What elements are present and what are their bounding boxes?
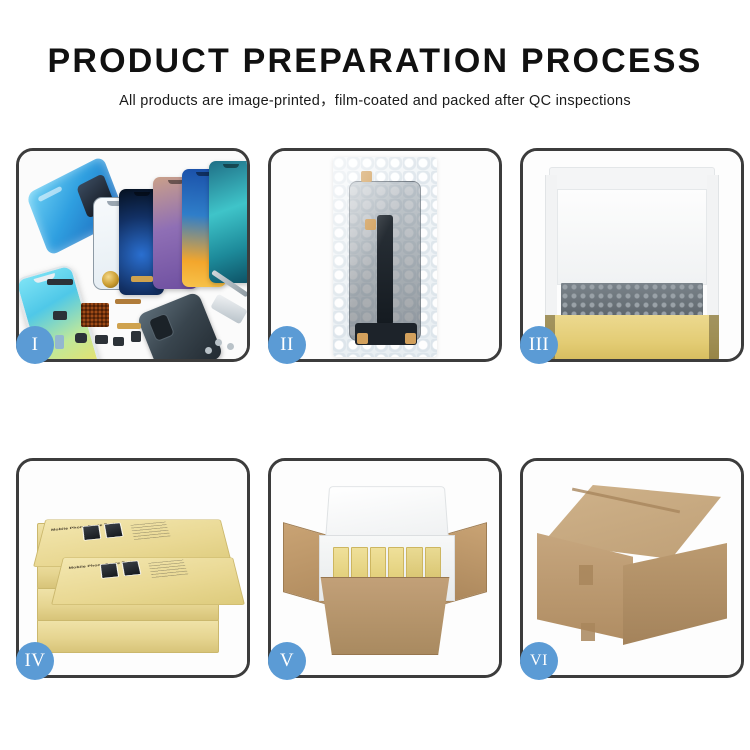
box-spec-lines [131,522,171,540]
step-5-illustration [271,461,499,675]
step-badge-4: IV [16,642,54,680]
component-icon [75,333,87,343]
screw-icon [227,343,234,350]
infographic-page: PRODUCT PREPARATION PROCESS All products… [0,0,750,750]
box-stack-icon: Mobile Phone Spare Parts Mobile Phone Sp… [33,483,233,655]
step-panel-5: V [268,458,502,678]
second-box-lid: Mobile Phone Spare Parts [51,557,245,605]
tape-icon [361,171,372,182]
tape-icon [365,219,376,230]
step-1-illustration [19,151,247,359]
flex-cable-icon [117,323,141,329]
carton-tape [581,623,595,641]
copper-grid-icon [81,303,109,327]
carton-right-face [623,543,727,645]
box-left-side [545,175,557,325]
carton-body [315,577,455,655]
box-product-image [121,561,141,577]
open-box-icon [535,167,729,339]
tool-icon [210,294,247,325]
box-spec-lines [148,560,188,578]
bubble-wrap-icon [333,157,437,357]
step-2-illustration [271,151,499,359]
carton-open-icon [285,477,485,661]
step-panel-2: II [268,148,502,362]
camera-module-icon [148,312,176,342]
component-icon [55,335,64,349]
component-icon [53,311,67,320]
box-right-side [707,175,719,325]
part-strip-icon [377,215,393,325]
carton-tape [579,565,593,585]
header: PRODUCT PREPARATION PROCESS All products… [0,40,750,111]
step-badge-3: III [520,326,558,364]
step-4-illustration: Mobile Phone Spare Parts Mobile Phone Sp… [19,461,247,675]
component-icon [131,331,141,342]
gray-foam-sheet-icon [561,283,703,317]
phone-teal-icon [209,161,247,283]
step-panel-4: Mobile Phone Spare Parts Mobile Phone Sp… [16,458,250,678]
page-subtitle: All products are image-printed，film-coat… [0,91,750,111]
step-panel-3: III [520,148,744,362]
component-icon [95,335,108,344]
step-6-illustration [523,461,741,675]
notch-icon [223,164,239,168]
page-title: PRODUCT PREPARATION PROCESS [0,40,750,82]
step-badge-1: I [16,326,54,364]
flex-cable-icon [115,299,141,304]
tape-icon [357,333,368,344]
screw-icon [215,339,222,346]
coil-component-icon [102,271,119,288]
notch-icon [134,192,150,196]
sealed-carton-icon [535,481,729,659]
flex-cable-icon [131,276,153,282]
step-3-illustration [523,151,741,359]
step-badge-6: VI [520,642,558,680]
box-product-image [82,525,101,541]
white-foam-icon [557,189,707,285]
stacked-box [37,619,219,653]
step-badge-2: II [268,326,306,364]
tape-icon [405,333,416,344]
step-panel-1: I [16,148,250,362]
box-front-panel [545,315,719,359]
screw-icon [205,347,212,354]
component-icon [113,337,124,346]
component-icon [47,279,73,285]
box-product-image [104,523,124,539]
process-steps-grid: I II [16,148,740,678]
step-panel-6: VI [520,458,744,678]
step-badge-5: V [268,642,306,680]
box-product-image [100,563,119,579]
